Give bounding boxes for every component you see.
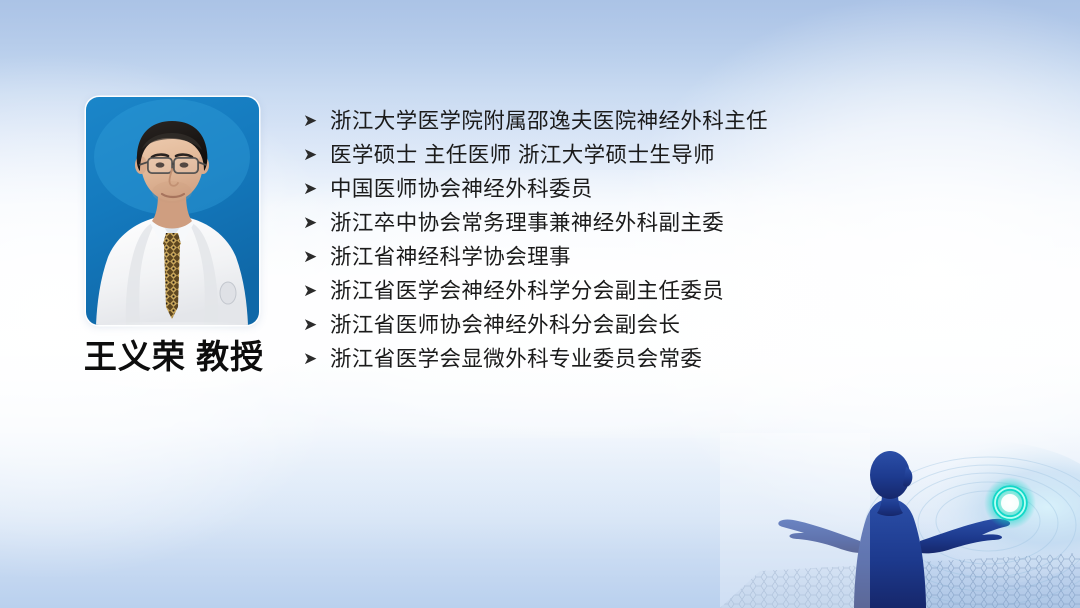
- credential-text: 中国医师协会神经外科委员: [330, 172, 993, 206]
- list-item: ➤ 浙江省医学会显微外科专业委员会常委: [303, 342, 993, 376]
- arrow-bullet-icon: ➤: [303, 342, 330, 376]
- credential-text: 浙江省医学会神经外科学分会副主任委员: [330, 274, 993, 308]
- list-item: ➤ 中国医师协会神经外科委员: [303, 172, 993, 206]
- credential-text: 浙江省神经科学协会理事: [330, 240, 993, 274]
- list-item: ➤ 浙江大学医学院附属邵逸夫医院神经外科主任: [303, 104, 993, 138]
- doctor-name-label: 王义荣 教授: [52, 336, 296, 378]
- credentials-list: ➤ 浙江大学医学院附属邵逸夫医院神经外科主任 ➤ 医学硕士 主任医师 浙江大学硕…: [303, 104, 993, 376]
- list-item: ➤ 浙江省神经科学协会理事: [303, 240, 993, 274]
- credential-text: 浙江省医学会显微外科专业委员会常委: [330, 342, 993, 376]
- arrow-bullet-icon: ➤: [303, 138, 330, 172]
- arrow-bullet-icon: ➤: [303, 240, 330, 274]
- list-item: ➤ 浙江卒中协会常务理事兼神经外科副主委: [303, 206, 993, 240]
- credential-text: 浙江大学医学院附属邵逸夫医院神经外科主任: [330, 104, 993, 138]
- list-item: ➤ 医学硕士 主任医师 浙江大学硕士生导师: [303, 138, 993, 172]
- arrow-bullet-icon: ➤: [303, 172, 330, 206]
- portrait-photo: [86, 97, 259, 325]
- slide-canvas: 王义荣 教授 ➤ 浙江大学医学院附属邵逸夫医院神经外科主任 ➤ 医学硕士 主任医…: [0, 0, 1080, 608]
- arrow-bullet-icon: ➤: [303, 206, 330, 240]
- arrow-bullet-icon: ➤: [303, 274, 330, 308]
- credential-text: 浙江省医师协会神经外科分会副会长: [330, 308, 993, 342]
- list-item: ➤ 浙江省医师协会神经外科分会副会长: [303, 308, 993, 342]
- arrow-bullet-icon: ➤: [303, 308, 330, 342]
- list-item: ➤ 浙江省医学会神经外科学分会副主任委员: [303, 274, 993, 308]
- credential-text: 浙江卒中协会常务理事兼神经外科副主委: [330, 206, 993, 240]
- arrow-bullet-icon: ➤: [303, 104, 330, 138]
- credential-text: 医学硕士 主任医师 浙江大学硕士生导师: [330, 138, 993, 172]
